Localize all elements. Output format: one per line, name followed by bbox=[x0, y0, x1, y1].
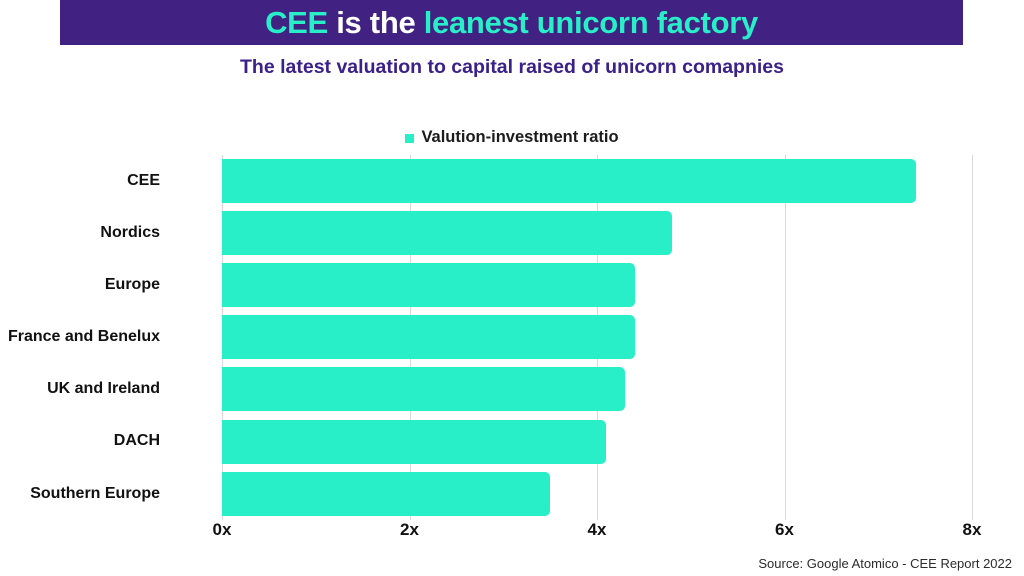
bar-row: CEE bbox=[222, 155, 972, 207]
title-banner: CEE is the leanest unicorn factory bbox=[60, 0, 963, 45]
category-label: France and Benelux bbox=[0, 311, 160, 363]
bar-row: Southern Europe bbox=[222, 468, 972, 520]
title-segment-0: CEE bbox=[265, 5, 328, 40]
legend-swatch-icon bbox=[405, 134, 414, 143]
bar[interactable] bbox=[222, 315, 635, 359]
bar[interactable] bbox=[222, 472, 550, 516]
bar-chart: CEENordicsEuropeFrance and BeneluxUK and… bbox=[0, 155, 1024, 520]
bar[interactable] bbox=[222, 263, 635, 307]
x-tick-label: 4x bbox=[588, 520, 607, 540]
bar[interactable] bbox=[222, 211, 672, 255]
slide-canvas: CEE is the leanest unicorn factory The l… bbox=[0, 0, 1024, 576]
chart-legend: Valution-investment ratio bbox=[0, 128, 1024, 147]
x-tick-label: 0x bbox=[213, 520, 232, 540]
legend-label: Valution-investment ratio bbox=[421, 128, 618, 147]
category-label: Southern Europe bbox=[0, 468, 160, 520]
bar-row: Europe bbox=[222, 259, 972, 311]
bar[interactable] bbox=[222, 367, 625, 411]
bar[interactable] bbox=[222, 159, 916, 203]
category-label: CEE bbox=[0, 155, 160, 207]
title-segment-1: is the bbox=[328, 5, 424, 40]
x-axis: 0x2x4x6x8x bbox=[0, 520, 1024, 548]
category-label: Nordics bbox=[0, 207, 160, 259]
x-tick-label: 8x bbox=[963, 520, 982, 540]
x-tick-label: 2x bbox=[400, 520, 419, 540]
bar-rows: CEENordicsEuropeFrance and BeneluxUK and… bbox=[222, 155, 972, 520]
page-title: CEE is the leanest unicorn factory bbox=[265, 7, 758, 38]
category-label: UK and Ireland bbox=[0, 363, 160, 415]
category-label: DACH bbox=[0, 415, 160, 467]
bar-row: UK and Ireland bbox=[222, 363, 972, 415]
bar-row: France and Benelux bbox=[222, 311, 972, 363]
source-note: Source: Google Atomico - CEE Report 2022 bbox=[758, 556, 1012, 571]
x-tick-label: 6x bbox=[775, 520, 794, 540]
plot-area: CEENordicsEuropeFrance and BeneluxUK and… bbox=[222, 155, 972, 520]
title-segment-2: leanest unicorn factory bbox=[424, 5, 758, 40]
chart-subtitle: The latest valuation to capital raised o… bbox=[180, 52, 844, 84]
bar[interactable] bbox=[222, 420, 606, 464]
gridline-8x bbox=[972, 155, 973, 520]
bar-row: DACH bbox=[222, 415, 972, 467]
category-label: Europe bbox=[0, 259, 160, 311]
bar-row: Nordics bbox=[222, 207, 972, 259]
